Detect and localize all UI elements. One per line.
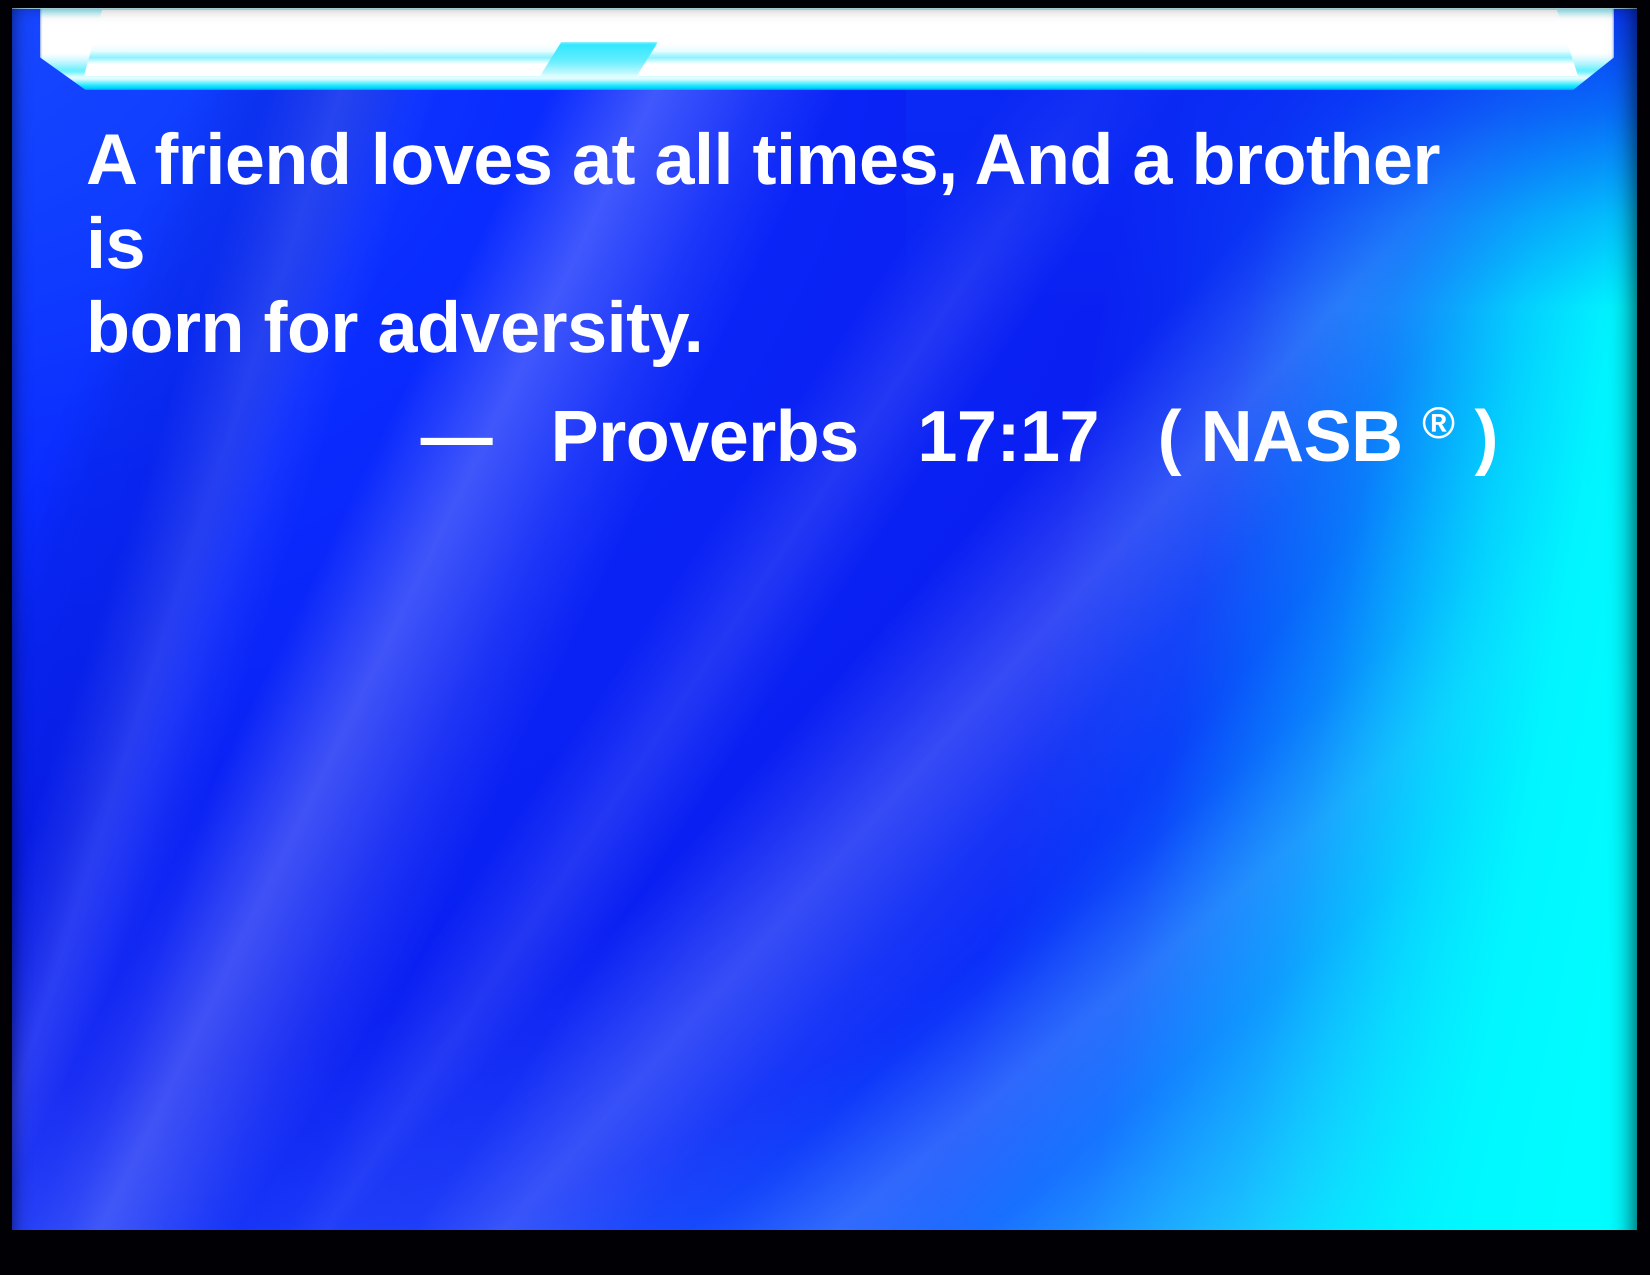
frame-border-bottom bbox=[0, 1230, 1650, 1275]
frame-border-right bbox=[1637, 0, 1650, 1275]
verse-slide: A friend loves at all times, And a broth… bbox=[0, 0, 1650, 1275]
band-core-white bbox=[78, 10, 1578, 76]
citation-dash: — bbox=[421, 397, 493, 477]
frame-border-left bbox=[0, 0, 12, 1275]
citation-close-paren: ) bbox=[1475, 397, 1498, 477]
citation-chapter-verse: 17:17 bbox=[917, 397, 1099, 477]
verse-line-2: born for adversity. bbox=[86, 286, 1506, 370]
verse-citation: — Proverbs 17:17 ( NASB ® ) bbox=[86, 382, 1506, 479]
citation-translation: NASB bbox=[1201, 397, 1403, 477]
citation-book: Proverbs bbox=[551, 397, 859, 477]
verse-line-1: A friend loves at all times, And a broth… bbox=[86, 118, 1506, 286]
registered-trademark-icon: ® bbox=[1422, 399, 1455, 448]
citation-open-paren: ( bbox=[1158, 397, 1181, 477]
top-white-band bbox=[0, 4, 1650, 90]
verse-text-block: A friend loves at all times, And a broth… bbox=[86, 118, 1506, 479]
frame-border-top bbox=[0, 0, 1650, 8]
